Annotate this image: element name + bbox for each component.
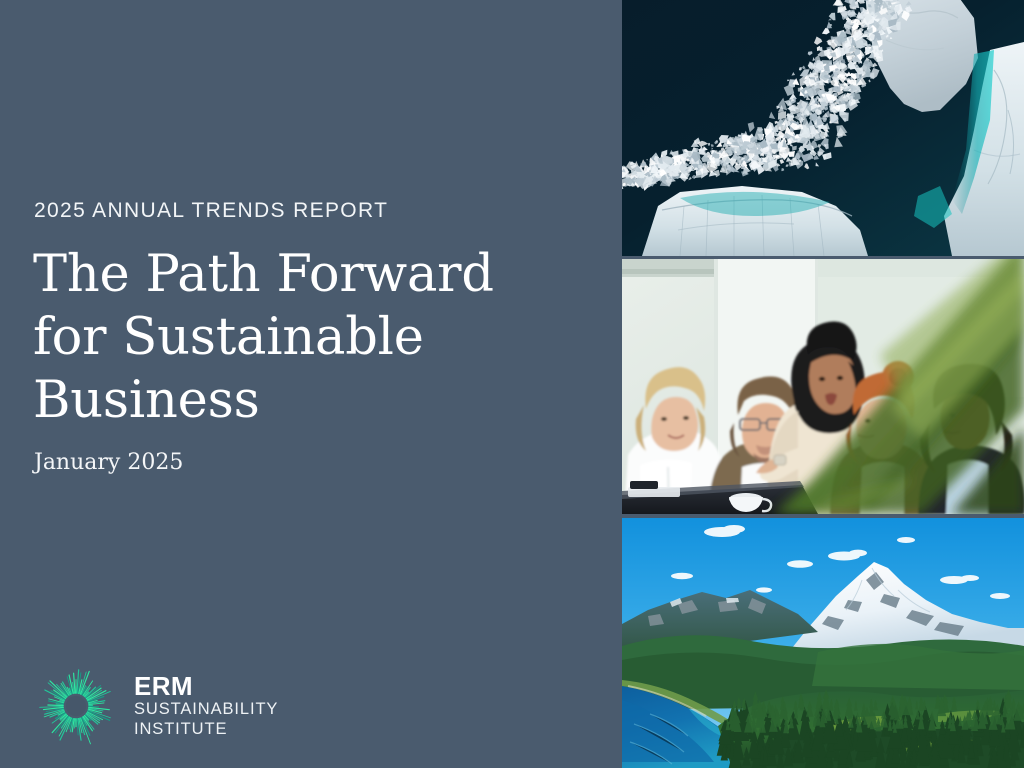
cover-text-panel: 2025 ANNUAL TRENDS REPORT The Path Forwa… <box>0 0 622 768</box>
erm-logo-line-3: INSTITUTE <box>134 719 278 739</box>
page-title-line-2: for Sustainable <box>33 306 593 369</box>
photo-mountain-lake-landscape <box>622 518 1024 768</box>
photo-arctic-sea-ice <box>622 0 1024 256</box>
report-cover: 2025 ANNUAL TRENDS REPORT The Path Forwa… <box>0 0 1024 768</box>
erm-logo-line-2: SUSTAINABILITY <box>134 699 278 719</box>
report-eyebrow-label: 2025 ANNUAL TRENDS REPORT <box>34 199 388 223</box>
cover-photo-strip <box>622 0 1024 768</box>
photo-business-meeting <box>622 259 1024 514</box>
page-title-line-1: The Path Forward <box>33 243 593 306</box>
erm-sunburst-icon <box>32 662 120 750</box>
page-title-line-3: Business <box>33 369 593 432</box>
page-title: The Path Forward for Sustainable Busines… <box>33 243 593 432</box>
publication-date: January 2025 <box>34 450 183 475</box>
erm-logo: ERM SUSTAINABILITY INSTITUTE <box>32 662 278 750</box>
erm-logo-wordmark: ERM SUSTAINABILITY INSTITUTE <box>134 673 278 739</box>
erm-logo-line-1: ERM <box>134 673 278 699</box>
